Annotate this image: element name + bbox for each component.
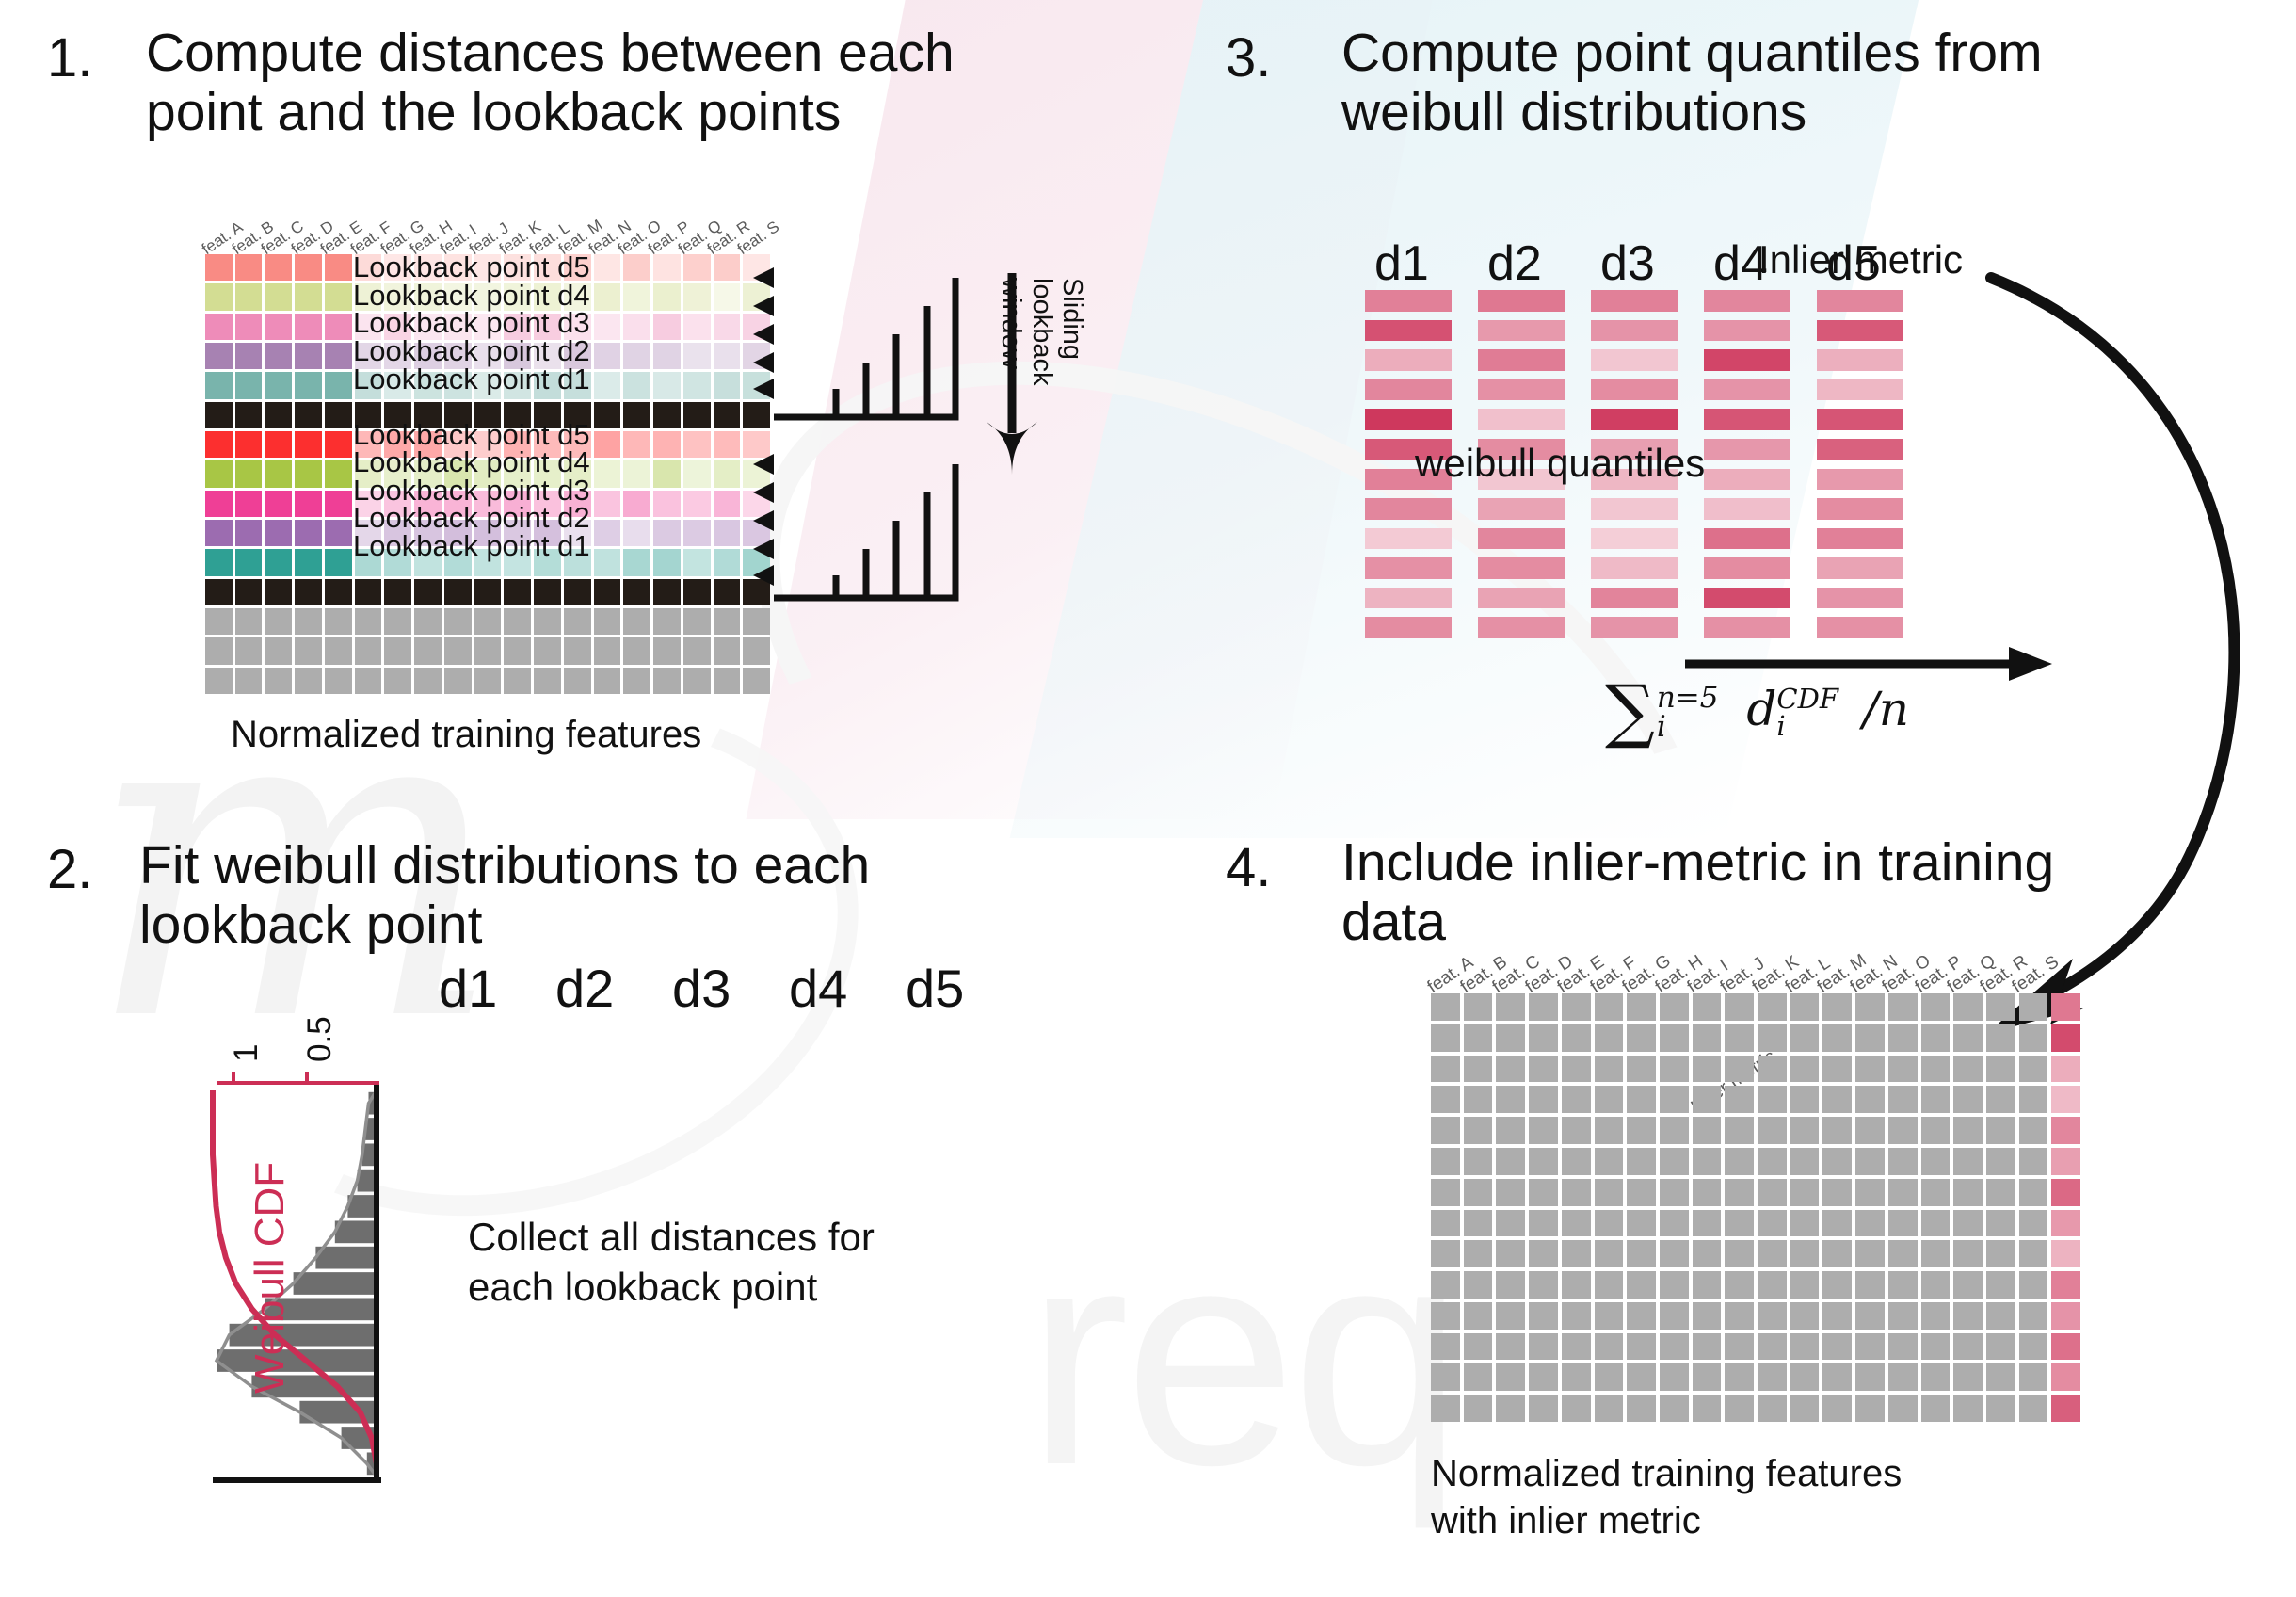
feature-cell xyxy=(1758,1302,1787,1330)
feature-cell xyxy=(1595,1363,1624,1391)
feature-cell xyxy=(1822,1056,1852,1083)
feature-cell xyxy=(1464,1395,1493,1422)
feature-cell xyxy=(1529,1024,1558,1052)
quantile-stripe xyxy=(1591,290,1678,312)
panel3-column-header-d2: d2 xyxy=(1487,235,1542,292)
matrix-cell-lookback xyxy=(325,314,352,340)
quantile-stripe xyxy=(1704,557,1790,579)
matrix-cell-future xyxy=(384,668,411,694)
feature-cell xyxy=(1953,993,1983,1021)
panel2-collect-distances-note: Collect all distances for each lookback … xyxy=(468,1213,875,1312)
formula-d-sup: CDF xyxy=(1776,686,1838,713)
matrix-cell-lookback xyxy=(653,314,681,340)
inlier-metric-cell xyxy=(2051,1148,2080,1175)
feature-cell xyxy=(1431,1333,1460,1361)
feature-cell xyxy=(2019,1333,2048,1361)
distance-stripe xyxy=(781,1408,874,1431)
matrix-cell-lookback xyxy=(325,549,352,575)
matrix-cell-current-point xyxy=(474,579,502,605)
feature-cell xyxy=(1921,1395,1951,1422)
matrix-cell-current-point xyxy=(653,402,681,428)
matrix-cell-lookback xyxy=(623,460,650,487)
feature-cell xyxy=(1888,1148,1918,1175)
inlier-metric-stripe xyxy=(1817,617,1903,638)
matrix-cell-future xyxy=(594,668,621,694)
feature-cell xyxy=(1529,1333,1558,1361)
quantile-stripe xyxy=(1478,320,1565,342)
matrix-cell-current-point xyxy=(714,579,741,605)
feature-cell xyxy=(1921,1056,1951,1083)
feature-cell xyxy=(1595,1086,1624,1113)
feature-cell xyxy=(1562,1117,1591,1144)
distance-stripe xyxy=(431,1408,523,1431)
feature-cell xyxy=(1758,1179,1787,1206)
feature-cell xyxy=(1953,1024,1983,1052)
feature-cell xyxy=(1562,1056,1591,1083)
matrix-cell-future xyxy=(355,608,382,635)
feature-cell xyxy=(1660,1302,1689,1330)
feature-cell xyxy=(1431,1240,1460,1267)
matrix-cell-future xyxy=(564,608,591,635)
matrix-cell-future xyxy=(504,668,531,694)
matrix-cell-future xyxy=(295,608,322,635)
matrix-cell-current-point xyxy=(235,402,263,428)
feature-cell xyxy=(1562,1179,1591,1206)
feature-cell xyxy=(1496,1117,1525,1144)
matrix-cell-lookback xyxy=(295,372,322,398)
feature-cell xyxy=(1986,993,2015,1021)
matrix-cell-lookback xyxy=(295,549,322,575)
quantile-stripe xyxy=(1704,588,1790,609)
matrix-cell-lookback xyxy=(265,431,292,458)
feature-cell xyxy=(2019,1363,2048,1391)
matrix-cell-lookback xyxy=(714,491,741,517)
distance-stripe xyxy=(781,1075,874,1099)
matrix-cell-future xyxy=(355,668,382,694)
matrix-cell-future xyxy=(594,637,621,664)
feature-cell xyxy=(1496,1271,1525,1299)
step-3-title: Compute point quantiles from weibull dis… xyxy=(1341,24,2283,141)
quantile-stripe xyxy=(1591,320,1678,342)
feature-cell xyxy=(2019,1117,2048,1144)
feature-cell xyxy=(1595,993,1624,1021)
feature-cell xyxy=(1790,1271,1820,1299)
matrix-cell-current-point xyxy=(265,402,292,428)
feature-cell xyxy=(2019,993,2048,1021)
feature-cell xyxy=(2019,1271,2048,1299)
matrix-cell-lookback xyxy=(653,254,681,281)
feature-cell xyxy=(1693,1240,1722,1267)
matrix-cell-lookback xyxy=(714,460,741,487)
matrix-cell-lookback xyxy=(235,491,263,517)
matrix-cell-lookback xyxy=(295,283,322,310)
quantile-stripe xyxy=(1704,320,1790,342)
feature-cell xyxy=(1790,1363,1820,1391)
matrix-cell-future xyxy=(325,637,352,664)
matrix-cell-future xyxy=(653,608,681,635)
matrix-cell-future xyxy=(534,608,561,635)
feature-cell xyxy=(1529,1302,1558,1330)
matrix-cell-lookback xyxy=(683,343,711,369)
feature-cell xyxy=(1725,993,1754,1021)
distance-stripe xyxy=(898,1352,990,1376)
feature-cell xyxy=(1888,1240,1918,1267)
matrix-cell-lookback xyxy=(265,372,292,398)
feature-cell xyxy=(1464,1271,1493,1299)
feature-cell xyxy=(1822,1117,1852,1144)
matrix-cell-lookback xyxy=(623,343,650,369)
feature-cell xyxy=(1921,1148,1951,1175)
feature-cell xyxy=(1431,1302,1460,1330)
panel4-caption: Normalized training features with inlier… xyxy=(1431,1450,1902,1544)
feature-cell xyxy=(1855,1302,1885,1330)
matrix-cell-future xyxy=(683,608,711,635)
feature-cell xyxy=(1986,1271,2015,1299)
distance-stripe xyxy=(665,1380,757,1404)
feature-cell xyxy=(1496,1210,1525,1237)
feature-cell xyxy=(2019,1302,2048,1330)
matrix-cell-lookback xyxy=(235,283,263,310)
feature-cell xyxy=(1627,1240,1656,1267)
feature-cell xyxy=(1953,1179,1983,1206)
matrix-cell-future xyxy=(534,668,561,694)
distance-stripe xyxy=(431,1325,523,1348)
distance-stripe xyxy=(431,1048,523,1072)
feature-cell xyxy=(1855,1395,1885,1422)
distance-stripe xyxy=(781,1131,874,1154)
matrix-cell-lookback xyxy=(265,520,292,546)
matrix-cell-lookback xyxy=(205,254,233,281)
feature-cell xyxy=(1693,1056,1722,1083)
feature-cell xyxy=(1529,1395,1558,1422)
feature-cell xyxy=(1464,1179,1493,1206)
feature-cell xyxy=(1595,1117,1624,1144)
feature-cell xyxy=(1595,1024,1624,1052)
matrix-cell-lookback xyxy=(623,283,650,310)
distance-stripe xyxy=(781,1186,874,1210)
feature-cell xyxy=(1627,993,1656,1021)
matrix-cell-lookback xyxy=(205,549,233,575)
quantile-stripe xyxy=(1704,469,1790,491)
matrix-cell-lookback xyxy=(683,491,711,517)
panel3-formula: ∑ n=5 i d CDF i /n xyxy=(1605,670,1909,751)
matrix-cell-lookback xyxy=(653,491,681,517)
matrix-cell-lookback xyxy=(594,549,621,575)
matrix-cell-future xyxy=(474,608,502,635)
feature-cell xyxy=(1660,993,1689,1021)
matrix-cell-current-point xyxy=(325,579,352,605)
feature-cell xyxy=(1953,1117,1983,1144)
distance-stripe xyxy=(898,1408,990,1431)
quantile-stripe xyxy=(1478,349,1565,371)
matrix-cell-current-point xyxy=(205,579,233,605)
feature-cell xyxy=(1888,1179,1918,1206)
feature-cell xyxy=(1888,1086,1918,1113)
quantile-stripe xyxy=(1365,528,1452,550)
feature-cell xyxy=(1855,993,1885,1021)
matrix-cell-lookback xyxy=(265,254,292,281)
matrix-cell-future xyxy=(205,608,233,635)
matrix-cell-future xyxy=(205,668,233,694)
matrix-cell-future xyxy=(504,637,531,664)
feature-cell xyxy=(1627,1395,1656,1422)
panel3-weibull-quantiles-note: weibull quantiles xyxy=(1415,441,1705,486)
matrix-cell-lookback xyxy=(594,431,621,458)
quantile-stripe xyxy=(1478,588,1565,609)
matrix-cell-future xyxy=(743,668,770,694)
distance-stripe xyxy=(781,1380,874,1404)
feature-cell xyxy=(1953,1056,1983,1083)
matrix-cell-current-point xyxy=(564,579,591,605)
matrix-cell-lookback xyxy=(265,343,292,369)
quantile-stripe xyxy=(1591,528,1678,550)
feature-cell xyxy=(1953,1395,1983,1422)
feature-cell xyxy=(1693,1179,1722,1206)
inlier-metric-stripe xyxy=(1817,588,1903,609)
feature-cell xyxy=(1660,1056,1689,1083)
distance-stripe xyxy=(781,1104,874,1127)
feature-cell xyxy=(1562,1210,1591,1237)
panel4-feature-matrix xyxy=(1431,993,2080,1422)
matrix-cell-future xyxy=(295,668,322,694)
feature-cell xyxy=(1758,1395,1787,1422)
quantile-stripe xyxy=(1478,290,1565,312)
feature-cell xyxy=(1595,1240,1624,1267)
feature-cell xyxy=(1790,1056,1820,1083)
distance-stripe xyxy=(665,1131,757,1154)
feature-cell xyxy=(1725,1333,1754,1361)
matrix-cell-lookback xyxy=(623,254,650,281)
inlier-metric-cell xyxy=(2051,1302,2080,1330)
matrix-cell-lookback xyxy=(623,431,650,458)
distance-stripe xyxy=(898,1325,990,1348)
matrix-cell-lookback xyxy=(683,254,711,281)
feature-cell xyxy=(1921,1271,1951,1299)
feature-cell xyxy=(1888,1333,1918,1361)
feature-cell xyxy=(1595,1210,1624,1237)
feature-cell xyxy=(1725,1056,1754,1083)
feature-cell xyxy=(1790,1148,1820,1175)
feature-cell xyxy=(1986,1302,2015,1330)
feature-cell xyxy=(1693,1148,1722,1175)
feature-cell xyxy=(1888,1056,1918,1083)
matrix-cell-future xyxy=(594,608,621,635)
distance-stripe xyxy=(898,1214,990,1237)
feature-cell xyxy=(1562,1302,1591,1330)
feature-cell xyxy=(1660,1148,1689,1175)
feature-cell xyxy=(1855,1240,1885,1267)
distance-stripe xyxy=(898,1242,990,1266)
feature-cell xyxy=(1758,1117,1787,1144)
inlier-metric-cell xyxy=(2051,1240,2080,1267)
panel2-column-header-d2: d2 xyxy=(555,958,614,1019)
distance-stripe xyxy=(781,1352,874,1376)
quantile-stripe xyxy=(1365,617,1452,638)
feature-cell xyxy=(1496,1179,1525,1206)
matrix-cell-lookback xyxy=(683,283,711,310)
feature-cell xyxy=(1888,1395,1918,1422)
quantile-stripe xyxy=(1365,557,1452,579)
feature-cell xyxy=(1855,1271,1885,1299)
feature-cell xyxy=(1758,1056,1787,1083)
matrix-cell-current-point xyxy=(205,402,233,428)
feature-cell xyxy=(1921,1024,1951,1052)
matrix-cell-lookback xyxy=(235,254,263,281)
feature-cell xyxy=(2019,1056,2048,1083)
lookback-point-row-label: Lookback point d1 xyxy=(353,363,590,396)
quantile-stripe xyxy=(1704,349,1790,371)
distance-stripe xyxy=(898,1048,990,1072)
feature-cell xyxy=(1660,1179,1689,1206)
matrix-cell-future xyxy=(325,608,352,635)
quantile-stripe xyxy=(1591,379,1678,401)
feature-cell xyxy=(1693,1302,1722,1330)
feature-cell xyxy=(1822,1240,1852,1267)
matrix-cell-lookback xyxy=(594,460,621,487)
quantile-stripe xyxy=(1365,290,1452,312)
feature-cell xyxy=(1660,1333,1689,1361)
matrix-cell-lookback xyxy=(325,460,352,487)
lookback-point-row-label: Lookback point d1 xyxy=(353,529,590,563)
feature-cell xyxy=(1855,1024,1885,1052)
panel2-column-header-d1: d1 xyxy=(439,958,497,1019)
feature-cell xyxy=(1822,1333,1852,1361)
feature-cell xyxy=(1986,1333,2015,1361)
quantile-stripe xyxy=(1591,588,1678,609)
feature-cell xyxy=(1921,1363,1951,1391)
feature-cell xyxy=(1627,1363,1656,1391)
distance-stripe xyxy=(665,1075,757,1099)
matrix-cell-current-point xyxy=(623,402,650,428)
step-3-number: 3. xyxy=(1226,26,1271,89)
matrix-cell-future xyxy=(683,668,711,694)
distance-stripe xyxy=(548,1159,640,1183)
feature-cell xyxy=(1921,1117,1951,1144)
distance-stripe xyxy=(431,1352,523,1376)
feature-cell xyxy=(1758,1333,1787,1361)
distance-stripe xyxy=(898,1186,990,1210)
matrix-cell-future xyxy=(623,637,650,664)
weibull-cdf-chart xyxy=(188,1036,452,1488)
matrix-cell-current-point xyxy=(623,579,650,605)
matrix-cell-future xyxy=(295,637,322,664)
feature-cell xyxy=(1431,1210,1460,1237)
feature-cell xyxy=(1693,1024,1722,1052)
feature-cell xyxy=(1693,993,1722,1021)
panel3-column-header-d3: d3 xyxy=(1600,235,1655,292)
matrix-cell-current-point xyxy=(235,579,263,605)
matrix-cell-future xyxy=(623,608,650,635)
feature-cell xyxy=(1431,1271,1460,1299)
formula-sub: i xyxy=(1657,713,1719,742)
inlier-metric-stripe xyxy=(1817,528,1903,550)
feature-cell xyxy=(2019,1395,2048,1422)
feature-cell xyxy=(1725,1210,1754,1237)
distance-stripe xyxy=(665,1186,757,1210)
matrix-cell-lookback xyxy=(205,283,233,310)
inlier-metric-stripe xyxy=(1817,469,1903,491)
feature-cell xyxy=(1855,1363,1885,1391)
step-2-number: 2. xyxy=(47,838,92,901)
feature-cell xyxy=(1595,1148,1624,1175)
feature-cell xyxy=(2019,1148,2048,1175)
feature-cell xyxy=(1496,1240,1525,1267)
matrix-cell-future xyxy=(534,637,561,664)
feature-cell xyxy=(1725,1086,1754,1113)
panel2-column-header-d5: d5 xyxy=(906,958,964,1019)
matrix-cell-lookback xyxy=(653,520,681,546)
distance-stripe xyxy=(548,1352,640,1376)
quantile-stripe xyxy=(1704,498,1790,520)
feature-cell xyxy=(1660,1117,1689,1144)
feature-cell xyxy=(1562,1024,1591,1052)
panel3-column-header-d1: d1 xyxy=(1374,235,1429,292)
feature-cell xyxy=(1888,1117,1918,1144)
feature-cell xyxy=(1822,1395,1852,1422)
matrix-cell-lookback xyxy=(653,372,681,398)
feature-cell xyxy=(1725,1117,1754,1144)
quantile-stripe xyxy=(1704,439,1790,460)
feature-cell xyxy=(1725,1024,1754,1052)
feature-cell xyxy=(1921,1240,1951,1267)
matrix-cell-lookback xyxy=(714,314,741,340)
matrix-cell-lookback xyxy=(235,460,263,487)
matrix-cell-future xyxy=(265,637,292,664)
feature-cell xyxy=(1627,1056,1656,1083)
matrix-cell-lookback xyxy=(653,431,681,458)
feature-cell xyxy=(1464,1333,1493,1361)
inlier-metric-stripe xyxy=(1817,409,1903,430)
feature-cell xyxy=(1496,1086,1525,1113)
feature-cell xyxy=(1431,1179,1460,1206)
quantile-stripe xyxy=(1591,617,1678,638)
matrix-cell-current-point xyxy=(534,579,561,605)
feature-cell xyxy=(1627,1210,1656,1237)
matrix-cell-future xyxy=(205,637,233,664)
distance-stripe xyxy=(781,1159,874,1183)
matrix-cell-lookback xyxy=(714,549,741,575)
distance-stripe xyxy=(665,1463,757,1487)
matrix-cell-lookback xyxy=(265,460,292,487)
inlier-metric-stripe xyxy=(1817,349,1903,371)
feature-cell xyxy=(1921,993,1951,1021)
matrix-cell-future xyxy=(714,637,741,664)
feature-cell xyxy=(1562,1333,1591,1361)
feature-cell xyxy=(1822,1086,1852,1113)
feature-cell xyxy=(1562,1148,1591,1175)
feature-cell xyxy=(1888,1271,1918,1299)
feature-cell xyxy=(1431,1117,1460,1144)
inlier-metric-stripe xyxy=(1817,379,1903,401)
distance-stripe xyxy=(898,1075,990,1099)
feature-cell xyxy=(1660,1271,1689,1299)
matrix-cell-lookback xyxy=(265,314,292,340)
feature-cell xyxy=(1953,1240,1983,1267)
feature-cell xyxy=(1822,1148,1852,1175)
matrix-cell-lookback xyxy=(653,343,681,369)
distance-stripe xyxy=(548,1186,640,1210)
weibull-cdf-curve-label: Weibull CDF xyxy=(247,1162,294,1394)
quantile-stripe xyxy=(1591,498,1678,520)
matrix-cell-future xyxy=(355,637,382,664)
matrix-cell-lookback xyxy=(205,343,233,369)
matrix-cell-current-point xyxy=(414,579,442,605)
feature-cell xyxy=(1921,1302,1951,1330)
feature-cell xyxy=(1790,1024,1820,1052)
distance-stripe xyxy=(781,1048,874,1072)
feature-cell xyxy=(1496,1302,1525,1330)
matrix-cell-lookback xyxy=(235,314,263,340)
